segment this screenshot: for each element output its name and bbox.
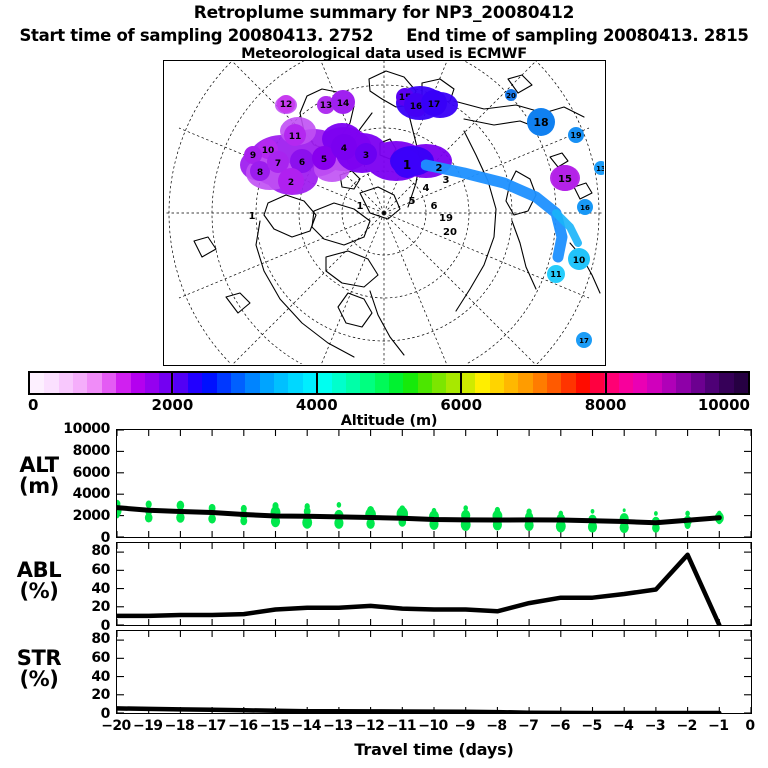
svg-text:18: 18 bbox=[533, 116, 548, 129]
cluster-marker: 4 bbox=[331, 134, 357, 160]
cluster-marker: 18 bbox=[527, 108, 555, 136]
str-line bbox=[117, 708, 719, 713]
colorbar-segment bbox=[662, 373, 676, 393]
x-tick-label: −9 bbox=[455, 718, 475, 734]
colorbar-segment bbox=[418, 373, 432, 393]
alt-cluster-marker bbox=[685, 511, 690, 517]
svg-text:14: 14 bbox=[337, 99, 350, 109]
x-tick-label: −1 bbox=[708, 718, 728, 734]
svg-text:2: 2 bbox=[436, 163, 443, 174]
colorbar-tick-label: 2000 bbox=[152, 396, 194, 414]
altitude-colorbar: 0200040006000800010000 Altitude (m) bbox=[28, 371, 750, 395]
svg-text:9: 9 bbox=[250, 151, 256, 161]
retroplume-map[interactable]: 12 13 14 11 15 16 17 20 18 19 10 9 8 7 6… bbox=[163, 60, 606, 366]
x-axis-tick-labels: −20−19−18−17−16−15−14−13−12−11−10−9−8−7−… bbox=[116, 718, 752, 738]
str-plot-canvas bbox=[117, 631, 751, 713]
x-tick-label: −18 bbox=[165, 718, 194, 734]
abl-plot-panel[interactable] bbox=[116, 542, 752, 626]
colorbar-strip bbox=[28, 371, 750, 395]
svg-text:19: 19 bbox=[570, 131, 582, 140]
x-tick-label: −17 bbox=[196, 718, 225, 734]
svg-text:12: 12 bbox=[280, 100, 293, 110]
alt-cluster-marker bbox=[208, 514, 216, 524]
y-tick-label: 4000 bbox=[73, 486, 110, 502]
x-tick-label: −14 bbox=[291, 718, 320, 734]
alt-cluster-marker bbox=[145, 513, 153, 523]
x-tick-label: −6 bbox=[550, 718, 570, 734]
colorbar-segment bbox=[217, 373, 231, 393]
x-axis-title: Travel time (days) bbox=[116, 740, 752, 759]
colorbar-segment bbox=[389, 373, 403, 393]
colorbar-segment bbox=[576, 373, 590, 393]
colorbar-segment bbox=[288, 373, 302, 393]
colorbar-segment bbox=[188, 373, 202, 393]
svg-text:11: 11 bbox=[550, 270, 562, 279]
colorbar-segment bbox=[332, 373, 346, 393]
colorbar-segment bbox=[202, 373, 216, 393]
x-tick-label: −2 bbox=[676, 718, 696, 734]
alt-cluster-marker bbox=[146, 501, 152, 509]
colorbar-segment bbox=[44, 373, 58, 393]
svg-text:5: 5 bbox=[409, 196, 416, 207]
x-tick-label: −11 bbox=[387, 718, 416, 734]
colorbar-segment bbox=[561, 373, 575, 393]
colorbar-segment bbox=[131, 373, 145, 393]
alt-cluster-marker bbox=[623, 508, 626, 512]
cluster-marker: 13 bbox=[594, 161, 604, 175]
colorbar-segment bbox=[145, 373, 159, 393]
svg-text:4: 4 bbox=[423, 183, 430, 194]
colorbar-segment bbox=[87, 373, 101, 393]
x-tick-label: −7 bbox=[518, 718, 538, 734]
cluster-marker: 17 bbox=[576, 332, 592, 348]
cluster-marker: 16 bbox=[577, 199, 593, 215]
svg-text:1: 1 bbox=[249, 211, 256, 222]
cluster-marker: 10 bbox=[568, 248, 590, 270]
x-tick-label: −12 bbox=[355, 718, 384, 734]
page-title: Retroplume summary for NP3_20080412 bbox=[0, 3, 768, 23]
svg-text:20: 20 bbox=[443, 227, 457, 238]
svg-text:19: 19 bbox=[439, 213, 453, 224]
colorbar-segment bbox=[504, 373, 518, 393]
abl-y-tick-labels: 020406080 bbox=[48, 542, 110, 626]
x-tick-label: −20 bbox=[101, 718, 130, 734]
colorbar-axis-title: Altitude (m) bbox=[28, 413, 750, 429]
colorbar-segment bbox=[360, 373, 374, 393]
svg-text:1: 1 bbox=[403, 158, 411, 172]
colorbar-segment bbox=[59, 373, 73, 393]
colorbar-segment bbox=[375, 373, 389, 393]
svg-text:11: 11 bbox=[289, 132, 302, 142]
colorbar-segment bbox=[174, 373, 188, 393]
cluster-marker: 14 bbox=[331, 90, 355, 114]
y-tick-label: 80 bbox=[91, 543, 110, 559]
svg-text:3: 3 bbox=[443, 175, 450, 186]
alt-cluster-marker bbox=[240, 517, 247, 526]
svg-text:5: 5 bbox=[321, 155, 327, 165]
colorbar-segment bbox=[231, 373, 245, 393]
alt-cluster-marker bbox=[591, 509, 595, 514]
colorbar-segment bbox=[734, 373, 748, 393]
map-canvas: 12 13 14 11 15 16 17 20 18 19 10 9 8 7 6… bbox=[164, 61, 604, 364]
cluster-marker: 17 bbox=[421, 90, 447, 116]
sampling-time-line: Start time of sampling 20080413. 2752 En… bbox=[0, 26, 768, 45]
colorbar-separator bbox=[460, 371, 462, 395]
svg-text:4: 4 bbox=[341, 144, 347, 154]
y-tick-label: 40 bbox=[91, 581, 110, 597]
abl-line bbox=[117, 555, 719, 625]
y-tick-label: 2000 bbox=[73, 508, 110, 524]
colorbar-segment bbox=[432, 373, 446, 393]
alt-mean-line bbox=[117, 508, 719, 523]
y-tick-label: 60 bbox=[91, 650, 110, 666]
alt-plot-canvas bbox=[117, 430, 751, 537]
colorbar-segment bbox=[317, 373, 331, 393]
svg-text:3: 3 bbox=[363, 151, 369, 161]
cluster-marker: 11 bbox=[284, 124, 306, 146]
colorbar-segment bbox=[647, 373, 661, 393]
cluster-marker: 1 bbox=[393, 150, 421, 178]
colorbar-segment bbox=[260, 373, 274, 393]
colorbar-segment bbox=[102, 373, 116, 393]
colorbar-tick-label: 0 bbox=[28, 396, 38, 414]
svg-text:1: 1 bbox=[357, 201, 364, 212]
svg-text:15: 15 bbox=[558, 174, 572, 185]
cluster-markers: 12 13 14 11 15 16 17 20 18 19 10 9 8 7 6… bbox=[244, 88, 604, 364]
colorbar-segment bbox=[676, 373, 690, 393]
alt-plot-panel[interactable] bbox=[116, 429, 752, 538]
x-tick-label: −5 bbox=[581, 718, 601, 734]
svg-text:6: 6 bbox=[299, 158, 305, 168]
meridian-lines bbox=[164, 61, 604, 364]
colorbar-segment bbox=[590, 373, 604, 393]
x-tick-label: −13 bbox=[323, 718, 352, 734]
colorbar-segment bbox=[274, 373, 288, 393]
colorbar-tick-label: 6000 bbox=[440, 396, 482, 414]
colorbar-segment bbox=[691, 373, 705, 393]
colorbar-segment bbox=[533, 373, 547, 393]
x-tick-label: −15 bbox=[260, 718, 289, 734]
colorbar-tick-label: 10000 bbox=[698, 396, 750, 414]
svg-text:20: 20 bbox=[506, 92, 516, 100]
abl-plot-canvas bbox=[117, 543, 751, 625]
colorbar-separator bbox=[316, 371, 318, 395]
colorbar-segment bbox=[490, 373, 504, 393]
svg-text:8: 8 bbox=[257, 168, 263, 178]
x-tick-label: −19 bbox=[133, 718, 162, 734]
x-tick-label: −3 bbox=[645, 718, 665, 734]
svg-text:17: 17 bbox=[579, 337, 589, 345]
cluster-marker: 20 bbox=[505, 89, 517, 101]
y-tick-label: 20 bbox=[91, 687, 110, 703]
svg-text:13: 13 bbox=[320, 101, 333, 111]
alt-cluster-marker bbox=[654, 511, 658, 516]
str-y-tick-labels: 020406080 bbox=[48, 630, 110, 714]
y-tick-label: 40 bbox=[91, 669, 110, 685]
svg-text:17: 17 bbox=[428, 100, 441, 110]
colorbar-segment bbox=[518, 373, 532, 393]
colorbar-segment bbox=[446, 373, 460, 393]
svg-text:16: 16 bbox=[580, 204, 590, 212]
y-tick-label: 8000 bbox=[73, 443, 110, 459]
colorbar-segment bbox=[633, 373, 647, 393]
x-tick-label: −10 bbox=[418, 718, 447, 734]
cluster-marker: 11 bbox=[547, 265, 565, 283]
cluster-marker: 8 bbox=[250, 161, 270, 181]
x-tick-label: −16 bbox=[228, 718, 257, 734]
colorbar-segment bbox=[461, 373, 475, 393]
x-tick-label: −8 bbox=[486, 718, 506, 734]
colorbar-segment bbox=[116, 373, 130, 393]
colorbar-segment bbox=[346, 373, 360, 393]
x-tick-label: 0 bbox=[745, 718, 754, 734]
alt-y-tick-labels: 0200040006000800010000 bbox=[48, 429, 110, 538]
svg-text:6: 6 bbox=[431, 201, 438, 212]
colorbar-segment bbox=[705, 373, 719, 393]
y-tick-label: 10000 bbox=[63, 421, 110, 437]
svg-text:7: 7 bbox=[275, 159, 281, 169]
x-tick-label: −4 bbox=[613, 718, 633, 734]
colorbar-segment bbox=[475, 373, 489, 393]
y-tick-label: 80 bbox=[91, 631, 110, 647]
str-plot-panel[interactable] bbox=[116, 630, 752, 714]
colorbar-separator bbox=[605, 371, 607, 395]
header-block: Retroplume summary for NP3_20080412 Star… bbox=[0, 0, 768, 62]
cluster-marker: 3 bbox=[355, 143, 377, 165]
alt-cluster-marker bbox=[337, 502, 342, 508]
colorbar-separator bbox=[171, 371, 173, 395]
y-tick-label: 6000 bbox=[73, 465, 110, 481]
colorbar-tick-label: 8000 bbox=[585, 396, 627, 414]
colorbar-segment bbox=[547, 373, 561, 393]
colorbar-tick-labels: 0200040006000800010000 bbox=[28, 396, 750, 414]
svg-text:13: 13 bbox=[596, 165, 604, 173]
colorbar-segment bbox=[719, 373, 733, 393]
colorbar-segment bbox=[619, 373, 633, 393]
colorbar-tick-label: 4000 bbox=[296, 396, 338, 414]
end-time-label: End time of sampling 20080413. 2815 bbox=[406, 26, 748, 45]
cluster-marker: 12 bbox=[277, 95, 295, 113]
start-time-label: Start time of sampling 20080413. 2752 bbox=[19, 26, 373, 45]
colorbar-segment bbox=[73, 373, 87, 393]
cluster-marker: 2 bbox=[278, 168, 304, 194]
svg-text:2: 2 bbox=[288, 178, 294, 188]
svg-text:16: 16 bbox=[410, 102, 423, 112]
cluster-marker: 15 bbox=[552, 165, 578, 191]
y-tick-label: 20 bbox=[91, 599, 110, 615]
svg-text:10: 10 bbox=[573, 256, 586, 266]
colorbar-segment bbox=[403, 373, 417, 393]
colorbar-segment bbox=[30, 373, 44, 393]
colorbar-segment bbox=[245, 373, 259, 393]
cluster-marker: 19 bbox=[568, 127, 584, 143]
y-tick-label: 60 bbox=[91, 562, 110, 578]
